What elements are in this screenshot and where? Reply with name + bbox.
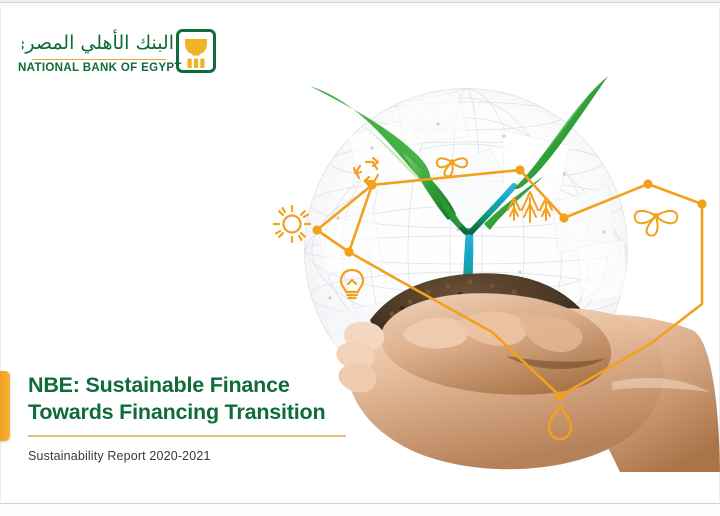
title-divider: [28, 435, 346, 437]
nbe-column-mark-icon: [176, 29, 216, 73]
cupped-hands: [336, 293, 720, 472]
page-title-line-1: NBE: Sustainable Finance: [28, 372, 388, 399]
viewer-bottom-edge: [0, 502, 720, 516]
accent-tab: [0, 371, 10, 441]
nbe-logo: البنك الأهلي المصري NATIONAL BANK OF EGY…: [18, 30, 218, 86]
page-title-line-2: Towards Financing Transition: [28, 399, 388, 426]
cover-title-block: NBE: Sustainable Finance Towards Financi…: [28, 372, 388, 463]
sun-icon: [274, 206, 310, 242]
leaf-trio-icon: [635, 211, 678, 236]
logo-arabic-name: البنك الأهلي المصري: [22, 28, 174, 58]
viewer-top-edge: [0, 0, 720, 8]
logo-english-name: NATIONAL BANK OF EGYPT: [18, 62, 170, 74]
page-subtitle: Sustainability Report 2020-2021: [28, 449, 388, 463]
logo-divider: [32, 59, 166, 60]
pdf-cover-page: البنك الأهلي المصري NATIONAL BANK OF EGY…: [0, 0, 720, 516]
